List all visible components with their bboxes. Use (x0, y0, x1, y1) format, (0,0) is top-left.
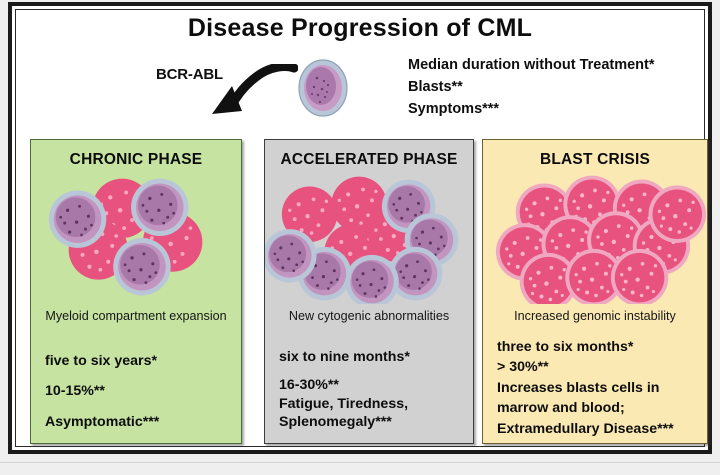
leukemia-cell-icon (297, 58, 349, 118)
panel-title-blast: BLAST CRISIS (483, 151, 707, 169)
legend-line-symptoms: Symptoms*** (408, 98, 655, 120)
panel-stats-blast: three to six months* > 30%** Increases b… (497, 338, 701, 440)
accelerated-blasts: 16-30%** (279, 376, 467, 394)
panel-blast-crisis: BLAST CRISIS (482, 139, 708, 444)
chronic-blasts: 10-15%** (45, 382, 235, 400)
canvas-margin-bottom (0, 462, 720, 475)
chronic-symptoms: Asymptomatic*** (45, 413, 235, 431)
panel-caption-blast: Increased genomic instability (489, 308, 701, 324)
figure-frame: Disease Progression of CML BCR-ABL Media… (8, 2, 712, 454)
cell-cluster-blast (483, 174, 707, 304)
chronic-duration: five to six years* (45, 352, 235, 370)
accelerated-duration: six to nine months* (279, 348, 467, 366)
panel-title-accelerated: ACCELERATED PHASE (265, 151, 473, 169)
panel-caption-accelerated: New cytogenic abnormalities (271, 308, 467, 324)
figure-title: Disease Progression of CML (12, 14, 708, 43)
canvas-margin-left (0, 0, 8, 474)
panel-stats-chronic: five to six years* 10-15%** Asymptomatic… (45, 352, 235, 443)
accelerated-symptoms-line1: Fatigue, Tiredness, (279, 395, 467, 413)
blast-symptoms-line2: marrow and blood; (497, 399, 701, 417)
accelerated-symptoms-line2: Splenomegaly*** (279, 413, 467, 431)
legend-line-duration: Median duration without Treatment* (408, 54, 655, 76)
panel-accelerated-phase: ACCELERATED PHASE (264, 139, 474, 444)
curved-arrow-icon (208, 64, 298, 120)
cell-cluster-chronic (31, 174, 241, 304)
legend-block: Median duration without Treatment* Blast… (408, 54, 655, 120)
blast-blasts: > 30%** (497, 358, 701, 376)
legend-line-blasts: Blasts** (408, 76, 655, 98)
blast-duration: three to six months* (497, 338, 701, 356)
blast-symptoms-line1: Increases blasts cells in (497, 379, 701, 397)
panel-caption-chronic: Myeloid compartment expansion (37, 308, 235, 324)
cell-cluster-accelerated (265, 174, 473, 304)
canvas-margin-right (712, 0, 720, 474)
panel-chronic-phase: CHRONIC PHASE (30, 139, 242, 444)
cml-progression-figure: Disease Progression of CML BCR-ABL Media… (0, 0, 720, 474)
panel-title-chronic: CHRONIC PHASE (31, 151, 241, 169)
panel-stats-accelerated: six to nine months* 16-30%** Fatigue, Ti… (279, 348, 467, 442)
blast-symptoms-line3: Extramedullary Disease*** (497, 420, 701, 438)
